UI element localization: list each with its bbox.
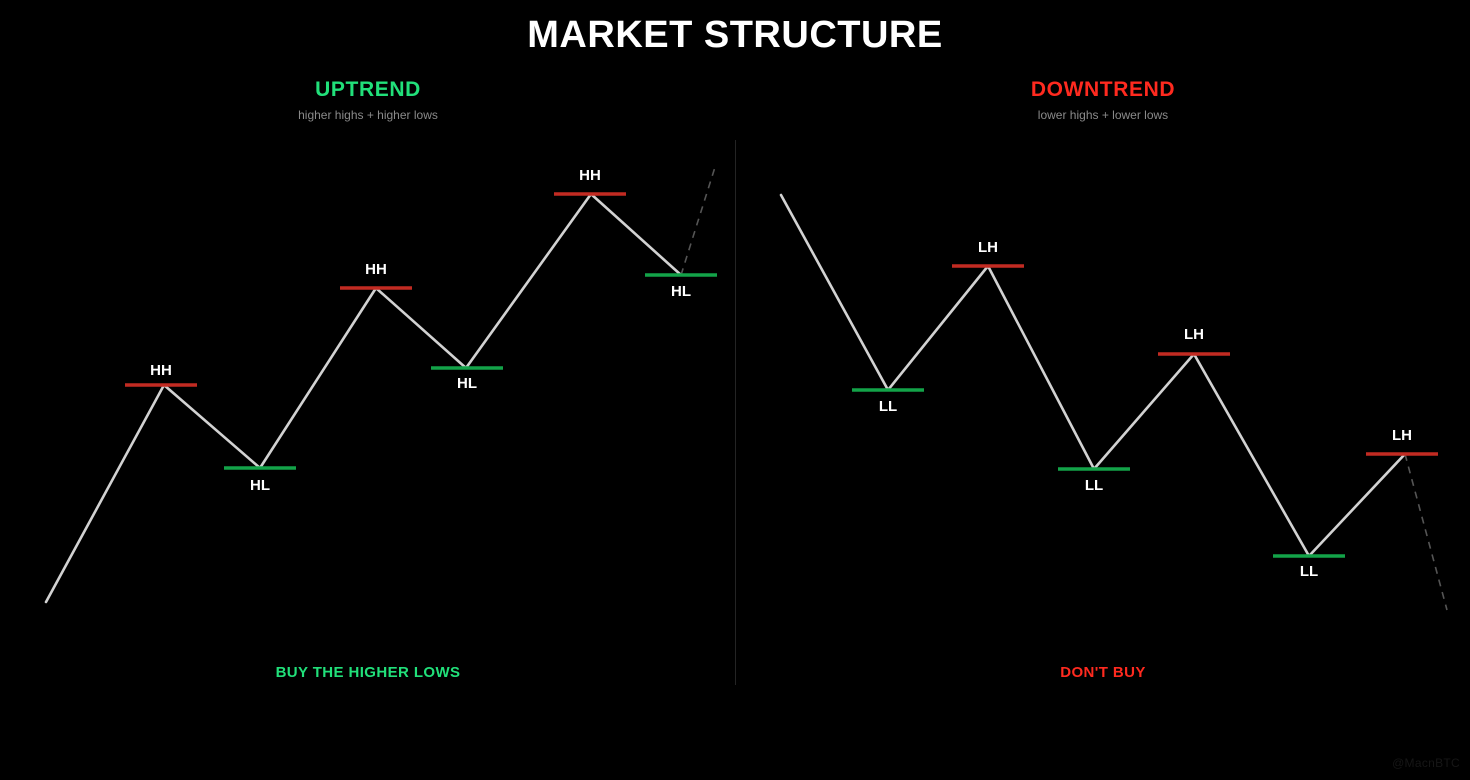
panel-heading-uptrend: UPTREND — [168, 78, 568, 102]
price-line-uptrend — [46, 194, 681, 602]
watermark: @MacnBTC — [1392, 756, 1460, 770]
swing-label-lh: LH — [1184, 326, 1204, 343]
panel-subtitle-uptrend: higher highs + higher lows — [168, 108, 568, 122]
panel-heading-downtrend: DOWNTREND — [903, 78, 1303, 102]
projection-line-uptrend — [681, 164, 716, 275]
projection-line-downtrend — [1405, 454, 1447, 610]
swing-label-hl: HL — [457, 375, 477, 392]
swing-label-hh: HH — [150, 362, 172, 379]
swing-label-ll: LL — [1300, 563, 1318, 580]
swing-label-hh: HH — [365, 261, 387, 278]
swing-label-hh: HH — [579, 167, 601, 184]
price-line-downtrend — [781, 195, 1405, 556]
swing-label-hl: HL — [250, 477, 270, 494]
swing-label-ll: LL — [1085, 477, 1103, 494]
swing-label-lh: LH — [978, 239, 998, 256]
market-structure-infographic: MARKET STRUCTURE UPTRENDhigher highs + h… — [0, 0, 1470, 780]
swing-label-lh: LH — [1392, 427, 1412, 444]
panel-subtitle-downtrend: lower highs + lower lows — [903, 108, 1303, 122]
panel-footer-downtrend: DON'T BUY — [903, 664, 1303, 681]
swing-label-ll: LL — [879, 398, 897, 415]
panel-divider — [735, 140, 736, 685]
panel-footer-uptrend: BUY THE HIGHER LOWS — [168, 664, 568, 681]
swing-label-hl: HL — [671, 283, 691, 300]
